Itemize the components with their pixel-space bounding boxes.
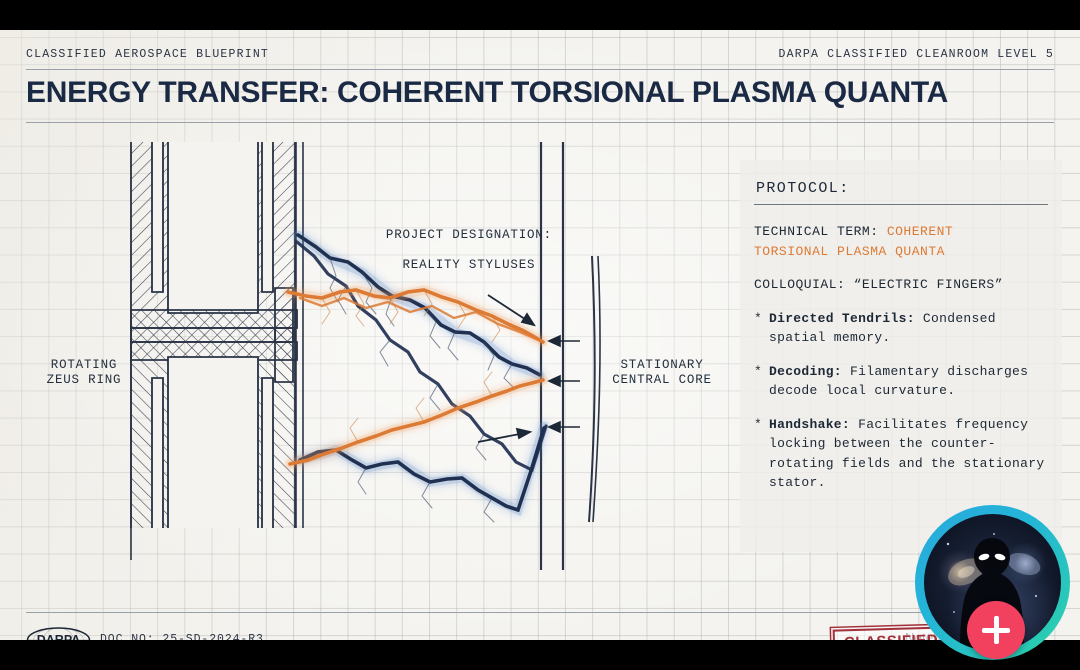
bullet-star-icon: * bbox=[754, 362, 769, 401]
list-item: * Directed Tendrils: Condensed spatial m… bbox=[754, 309, 1050, 348]
bullet-text: Handshake: Facilitates frequency locking… bbox=[769, 415, 1050, 493]
protocol-panel-title: PROTOCOL: bbox=[756, 180, 850, 197]
screenshot-root: CLASSIFIED AEROSPACE BLUEPRINT DARPA CLA… bbox=[0, 0, 1080, 670]
project-designation-label: PROJECT DESIGNATION: REALITY STYLUSES bbox=[334, 213, 554, 288]
colloquial-line: COLLOQUIAL: “ELECTRIC FINGERS” bbox=[754, 275, 1050, 295]
bullet-text: Decoding: Filamentary discharges decode … bbox=[769, 362, 1050, 401]
technical-term-value-1: COHERENT bbox=[887, 224, 953, 239]
bullet-term: Decoding: bbox=[769, 364, 842, 379]
document-number: DOC NO: 25-SD-2024-R3 bbox=[100, 633, 264, 640]
protocol-panel-body: TECHNICAL TERM: COHERENT TORSIONAL PLASM… bbox=[754, 222, 1050, 493]
darpa-logo-icon: DARPA bbox=[26, 627, 91, 640]
header-right-text: DARPA CLASSIFIED CLEANROOM LEVEL 5 bbox=[779, 48, 1054, 61]
spacer bbox=[754, 261, 1050, 275]
floating-avatar-widget[interactable] bbox=[915, 505, 1070, 660]
rotating-zeus-ring-label: ROTATING ZEUS RING bbox=[14, 358, 154, 388]
protocol-panel: PROTOCOL: TECHNICAL TERM: COHERENT TORSI… bbox=[740, 160, 1062, 552]
list-item: * Decoding: Filamentary discharges decod… bbox=[754, 362, 1050, 401]
bullet-star-icon: * bbox=[754, 309, 769, 348]
stationary-central-core-label: STATIONARY CENTRAL CORE bbox=[592, 358, 732, 388]
list-item: * Handshake: Facilitates frequency locki… bbox=[754, 415, 1050, 493]
bullet-text: Directed Tendrils: Condensed spatial mem… bbox=[769, 309, 1050, 348]
core-impact-arrows bbox=[549, 336, 580, 432]
technical-term-label: TECHNICAL TERM: bbox=[754, 224, 887, 239]
project-designation-title: PROJECT DESIGNATION: bbox=[386, 228, 552, 242]
project-designation-value: REALITY STYLUSES bbox=[402, 258, 535, 272]
bullet-term: Directed Tendrils: bbox=[769, 311, 915, 326]
stationary-core-lines bbox=[541, 142, 600, 570]
technical-term-value-2: TORSIONAL PLASMA QUANTA bbox=[754, 244, 945, 259]
protocol-panel-divider bbox=[754, 204, 1048, 205]
add-button[interactable] bbox=[967, 601, 1025, 659]
technical-term-line: TECHNICAL TERM: COHERENT TORSIONAL PLASM… bbox=[754, 222, 1050, 261]
engineering-drawing bbox=[0, 30, 740, 640]
bullet-term: Handshake: bbox=[769, 417, 850, 432]
zeus-ring-cross-section bbox=[131, 142, 303, 560]
darpa-logo-text: DARPA bbox=[37, 633, 81, 640]
footer-divider bbox=[26, 612, 1054, 613]
bullet-star-icon: * bbox=[754, 415, 769, 493]
